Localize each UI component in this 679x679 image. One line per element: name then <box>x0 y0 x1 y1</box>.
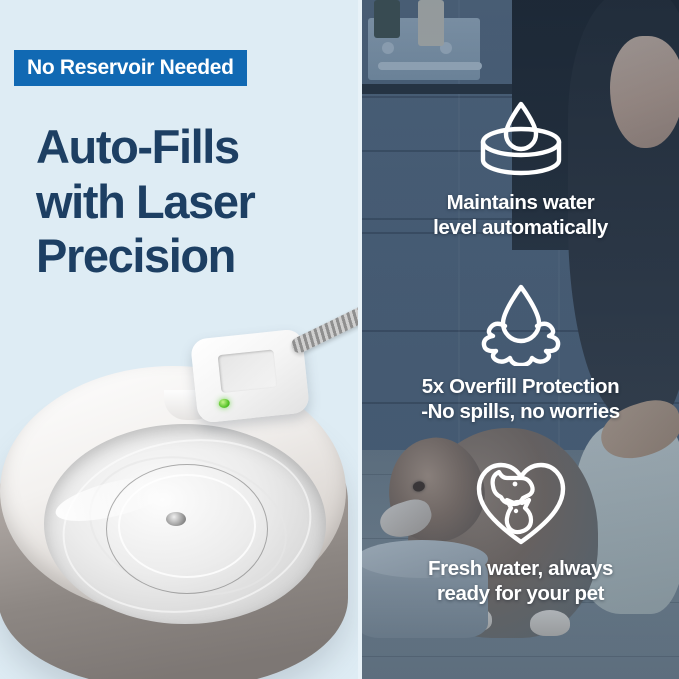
water-drop-over-bowl-icon <box>473 98 569 182</box>
feature-overfill-protection: 5x Overfill Protection -No spills, no wo… <box>362 282 679 424</box>
filter-ring <box>106 464 268 594</box>
dog-cat-heart-icon <box>473 458 569 548</box>
product-image-fountain <box>0 328 358 679</box>
water-drop-splash-icon <box>473 282 569 366</box>
feature-text: Fresh water, always ready for your pet <box>362 556 679 606</box>
led-indicator <box>218 398 230 408</box>
feature-2-line-1: 5x Overfill Protection <box>362 374 679 399</box>
center-nozzle <box>166 512 186 526</box>
page-title: Auto-Fills with Laser Precision <box>36 120 356 284</box>
brand-logo-emboss <box>218 349 278 393</box>
headline-line-3: Precision <box>36 229 356 284</box>
product-marketing-image: No Reservoir Needed Auto-Fills with Lase… <box>0 0 679 679</box>
feature-text: Maintains water level automatically <box>362 190 679 240</box>
feature-fresh-water: Fresh water, always ready for your pet <box>362 458 679 606</box>
headline-line-2: with Laser <box>36 175 356 230</box>
feature-3-line-1: Fresh water, always <box>362 556 679 581</box>
feature-maintains-water-level: Maintains water level automatically <box>362 98 679 240</box>
feature-text: 5x Overfill Protection -No spills, no wo… <box>362 374 679 424</box>
feature-2-line-2: -No spills, no worries <box>362 399 679 424</box>
braided-steel-hose <box>289 304 358 355</box>
feature-3-line-2: ready for your pet <box>362 581 679 606</box>
left-panel: No Reservoir Needed Auto-Fills with Lase… <box>0 0 358 679</box>
fountain-water-basin <box>44 424 326 624</box>
feature-1-line-1: Maintains water <box>362 190 679 215</box>
right-panel: Maintains water level automatically 5x O… <box>362 0 679 679</box>
feature-1-line-2: level automatically <box>362 215 679 240</box>
headline-line-1: Auto-Fills <box>36 120 356 175</box>
badge-no-reservoir: No Reservoir Needed <box>14 50 247 86</box>
